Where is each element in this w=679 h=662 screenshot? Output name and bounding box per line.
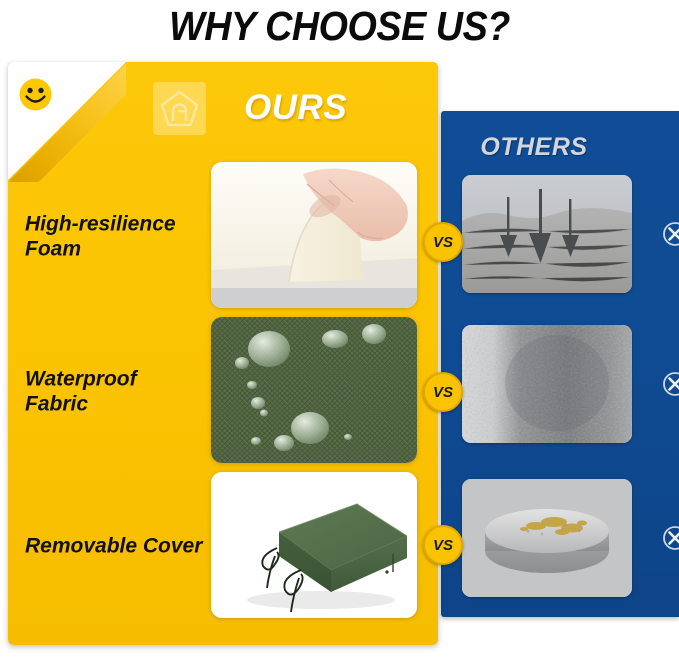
ours-row-3: Removable Cover xyxy=(8,472,438,622)
others-row-1 xyxy=(462,175,632,293)
ours-label-foam: High-resilience Foam xyxy=(25,212,205,261)
circle-x-icon xyxy=(662,221,679,247)
others-row-2 xyxy=(462,325,632,443)
others-image-stained-fabric xyxy=(462,325,632,443)
ours-header: OURS xyxy=(153,80,347,136)
vs-badge-1: VS xyxy=(423,222,463,262)
others-panel: OTHERS xyxy=(441,111,679,617)
ours-label-fabric: Waterproof Fabric xyxy=(25,367,205,416)
others-row-3 xyxy=(462,479,632,597)
ours-image-fabric xyxy=(211,317,417,463)
ours-image-cover xyxy=(211,472,417,618)
page-title: WHY CHOOSE US? xyxy=(27,0,652,52)
others-image-sagging-foam xyxy=(462,175,632,293)
vs-badge-2: VS xyxy=(423,372,463,412)
ours-image-foam xyxy=(211,162,417,308)
house-icon xyxy=(153,82,206,135)
ours-panel: OURS High-resilience Foam xyxy=(8,62,438,645)
circle-x-icon xyxy=(662,525,679,551)
ours-row-1: High-resilience Foam xyxy=(8,162,438,312)
vs-badge-3: VS xyxy=(423,525,463,565)
ours-label-cover: Removable Cover xyxy=(25,535,205,560)
circle-x-icon xyxy=(662,371,679,397)
ours-title: OURS xyxy=(244,88,347,128)
others-image-stained-cushion xyxy=(462,479,632,597)
others-title: OTHERS xyxy=(441,133,627,162)
ours-row-2: Waterproof Fabric xyxy=(8,317,438,467)
smiley-face-icon xyxy=(19,78,52,111)
